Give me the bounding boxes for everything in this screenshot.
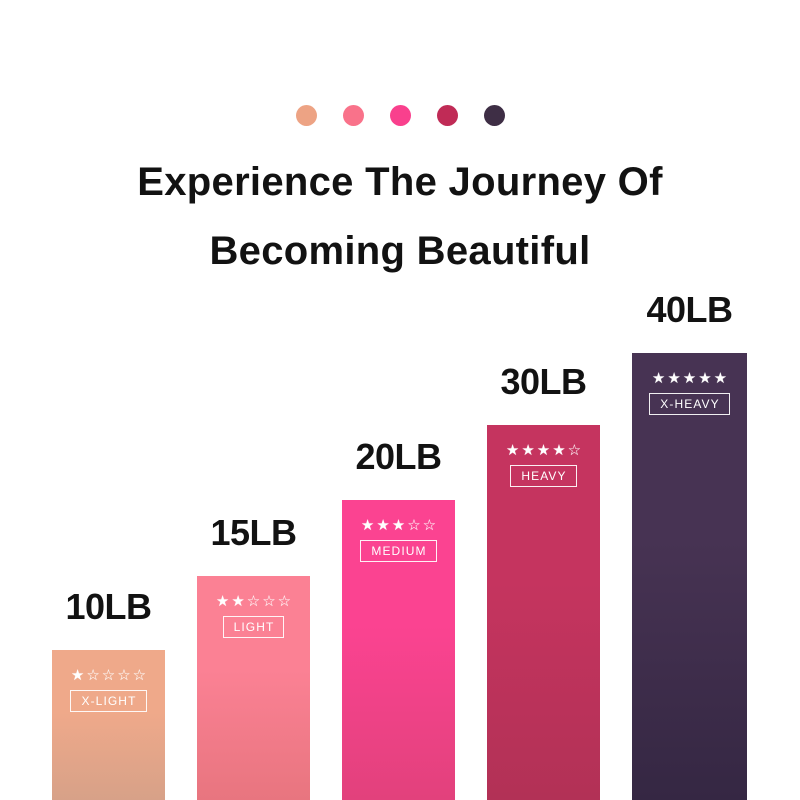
bar-30lb-star-rating: ★★★★☆ [506,443,581,458]
star-filled-icon: ★ [216,594,229,609]
star-empty-icon: ☆ [133,668,146,683]
star-filled-icon: ★ [537,443,550,458]
star-empty-icon: ☆ [278,594,291,609]
star-filled-icon: ★ [376,518,389,533]
bar-30lb-level-label: HEAVY [510,465,576,487]
bar-10lb-star-rating: ★☆☆☆☆ [71,668,146,683]
star-empty-icon: ☆ [247,594,260,609]
bar-20lb[interactable]: 20LB★★★☆☆MEDIUM [342,500,455,800]
star-filled-icon: ★ [667,371,680,386]
bar-15lb[interactable]: 15LB★★☆☆☆LIGHT [197,576,310,800]
bar-10lb-weight-label: 10LB [65,586,151,628]
bar-40lb-level-label: X-HEAVY [649,393,730,415]
star-empty-icon: ☆ [407,518,420,533]
star-filled-icon: ★ [506,443,519,458]
bar-30lb-badge: ★★★★☆HEAVY [487,443,600,487]
bar-15lb-badge: ★★☆☆☆LIGHT [197,594,310,638]
bar-10lb-level-label: X-LIGHT [70,690,146,712]
bar-40lb-badge: ★★★★★X-HEAVY [632,371,747,415]
bar-20lb-star-rating: ★★★☆☆ [361,518,436,533]
star-empty-icon: ☆ [568,443,581,458]
star-empty-icon: ☆ [262,594,275,609]
star-filled-icon: ★ [71,668,84,683]
bar-40lb-column[interactable] [632,353,747,800]
bar-15lb-weight-label: 15LB [210,512,296,554]
star-filled-icon: ★ [714,371,727,386]
star-filled-icon: ★ [361,518,374,533]
bar-15lb-level-label: LIGHT [223,616,285,638]
bar-10lb-badge: ★☆☆☆☆X-LIGHT [52,668,165,712]
star-empty-icon: ☆ [117,668,130,683]
bar-30lb-weight-label: 30LB [500,361,586,403]
bar-20lb-level-label: MEDIUM [360,540,436,562]
star-filled-icon: ★ [521,443,534,458]
star-filled-icon: ★ [231,594,244,609]
bar-20lb-badge: ★★★☆☆MEDIUM [342,518,455,562]
bar-15lb-star-rating: ★★☆☆☆ [216,594,291,609]
resistance-band-bar-chart: 10LB★☆☆☆☆X-LIGHT15LB★★☆☆☆LIGHT20LB★★★☆☆M… [0,0,800,800]
star-empty-icon: ☆ [86,668,99,683]
bar-20lb-weight-label: 20LB [355,436,441,478]
star-empty-icon: ☆ [423,518,436,533]
star-filled-icon: ★ [698,371,711,386]
bar-40lb-star-rating: ★★★★★ [652,371,727,386]
bar-30lb[interactable]: 30LB★★★★☆HEAVY [487,425,600,800]
bar-40lb-weight-label: 40LB [646,289,732,331]
star-filled-icon: ★ [392,518,405,533]
bar-40lb[interactable]: 40LB★★★★★X-HEAVY [632,353,747,800]
star-filled-icon: ★ [552,443,565,458]
star-filled-icon: ★ [652,371,665,386]
star-empty-icon: ☆ [102,668,115,683]
infographic-root: Experience The Journey Of Becoming Beaut… [0,0,800,800]
star-filled-icon: ★ [683,371,696,386]
bar-10lb[interactable]: 10LB★☆☆☆☆X-LIGHT [52,650,165,800]
